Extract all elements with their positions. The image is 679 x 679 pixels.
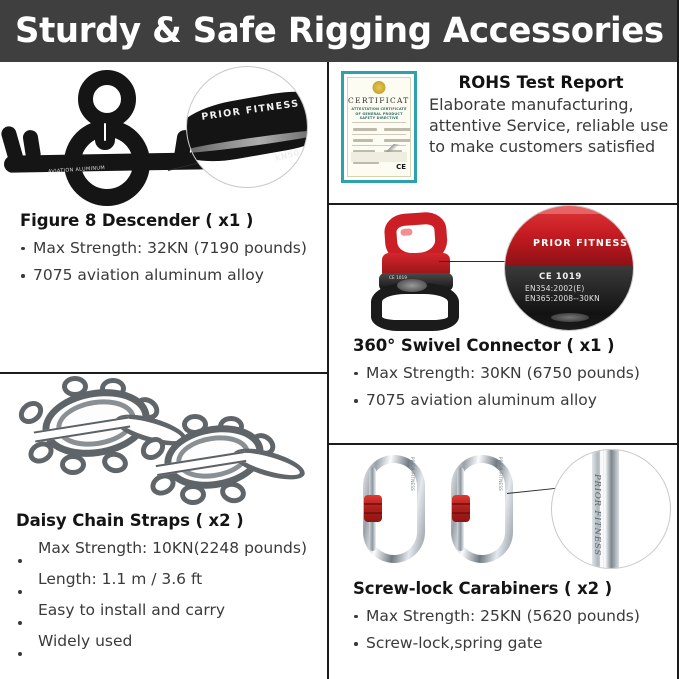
panel-daisy-chain-straps: Daisy Chain Straps ( x2 ) Max Strength: …: [0, 374, 327, 679]
list-item: Widely used: [16, 631, 317, 651]
page-title: Sturdy & Safe Rigging Accessories: [15, 14, 664, 49]
carabiner-icon-1: PRIOR FITNESS: [363, 455, 425, 563]
daisy-strap-coil-2: [140, 418, 310, 510]
list-item: Max Strength: 30KN (6750 pounds): [353, 363, 667, 384]
list-item: 7075 aviation aluminum alloy: [353, 390, 667, 411]
certificate-image: CERTIFICATE ATTESTATION CERTIFICATE OF G…: [341, 71, 417, 183]
swivel-magnifier-callout: PRIOR FITNESS CE 1019 EN354:2002(E) EN36…: [504, 205, 634, 331]
list-item: Screw-lock,spring gate: [353, 633, 667, 654]
swivel-callout-standards-label: EN354:2002(E) EN365:2008--30KN: [525, 284, 600, 303]
swivel-callout-red-section: [504, 205, 634, 266]
swivel-connector-icon: CE 1019: [357, 213, 487, 325]
panel-figure8-descender: AVIATION ALUMINUM PRIOR FITNESS kN50 Fig…: [0, 62, 327, 372]
figure8-center-slot: [95, 114, 115, 150]
daisy-title: Daisy Chain Straps ( x2 ): [16, 511, 317, 531]
header-bar: Sturdy & Safe Rigging Accessories: [0, 0, 679, 62]
certificate-ce-mark: CE: [396, 163, 406, 171]
carabiner-screw-sleeve-1: [364, 495, 382, 522]
swivel-bullet-list: Max Strength: 30KN (6750 pounds) 7075 av…: [353, 363, 667, 412]
figure8-magnifier-callout: PRIOR FITNESS kN50: [186, 66, 308, 188]
figure8-title: Figure 8 Descender ( x1 ): [20, 211, 313, 231]
list-item: 7075 aviation aluminum alloy: [20, 265, 313, 286]
list-item: Max Strength: 25KN (5620 pounds): [353, 606, 667, 627]
carabiner-magnifier-callout: PRIOR FITNESS: [551, 449, 671, 569]
carabiner-text-block: Screw-lock Carabiners ( x2 ) Max Strengt…: [329, 575, 679, 655]
rohs-body-text: Elaborate manufacturing, attentive Servi…: [429, 94, 669, 157]
rohs-heading: ROHS Test Report: [429, 73, 669, 92]
panel-screwlock-carabiners: PRIOR FITNESS PRIOR FITNESS PRIOR FITNES…: [329, 445, 679, 679]
daisy-bullet-list: Max Strength: 10KN(2248 pounds) Length: …: [16, 538, 317, 652]
list-item: Max Strength: 32KN (7190 pounds): [20, 238, 313, 259]
list-item: Max Strength: 10KN(2248 pounds): [16, 538, 317, 558]
carabiner-title: Screw-lock Carabiners ( x2 ): [353, 579, 667, 599]
certificate-seal-icon: [373, 81, 386, 94]
list-item: Length: 1.1 m / 3.6 ft: [16, 569, 317, 589]
figure8-bullet-list: Max Strength: 32KN (7190 pounds) 7075 av…: [20, 238, 313, 287]
figure8-descender-icon: AVIATION ALUMINUM: [18, 68, 208, 204]
swivel-title: 360° Swivel Connector ( x1 ): [353, 336, 667, 356]
daisy-product-image: [0, 374, 327, 509]
daisy-text-block: Daisy Chain Straps ( x2 ) Max Strength: …: [0, 509, 327, 651]
carabiner-screw-sleeve-2: [452, 495, 470, 522]
rohs-text-block: ROHS Test Report Elaborate manufacturing…: [429, 71, 669, 183]
carabiner-bullet-list: Max Strength: 25KN (5620 pounds) Screw-l…: [353, 606, 667, 655]
swivel-callout-brand-label: PRIOR FITNESS: [533, 238, 628, 249]
carabiner-icon-2: PRIOR FITNESS: [451, 455, 513, 563]
swivel-text-block: 360° Swivel Connector ( x1 ) Max Strengt…: [329, 330, 679, 412]
infographic-page: Sturdy & Safe Rigging Accessories AVIATI…: [0, 0, 679, 679]
certificate-footer-block: [351, 152, 407, 162]
panel-swivel-connector: CE 1019 PRIOR FITNESS CE 1019 EN354:2002…: [329, 205, 679, 443]
carabiner-callout-engraving-label: PRIOR FITNESS: [592, 474, 602, 556]
certificate-title: CERTIFICATE: [348, 96, 410, 105]
carabiner-engraving-2: PRIOR FITNESS: [498, 457, 503, 491]
panel-rohs-test-report: CERTIFICATE ATTESTATION CERTIFICATE OF G…: [329, 62, 679, 203]
figure8-text-block: Figure 8 Descender ( x1 ) Max Strength: …: [0, 207, 327, 287]
figure8-product-image: AVIATION ALUMINUM PRIOR FITNESS kN50: [0, 62, 327, 207]
certificate-subtitle: ATTESTATION CERTIFICATE OF GENERAL PRODU…: [351, 107, 407, 121]
swivel-callout-ce-label: CE 1019: [539, 272, 582, 282]
swivel-callout-base-oval: [551, 313, 589, 322]
carabiner-product-image: PRIOR FITNESS PRIOR FITNESS PRIOR FITNES…: [329, 445, 679, 575]
carabiner-engraving-1: PRIOR FITNESS: [410, 457, 415, 491]
swivel-product-image: CE 1019 PRIOR FITNESS CE 1019 EN354:2002…: [329, 205, 679, 330]
swivel-bearing: [397, 279, 427, 292]
list-item: Easy to install and carry: [16, 600, 317, 620]
